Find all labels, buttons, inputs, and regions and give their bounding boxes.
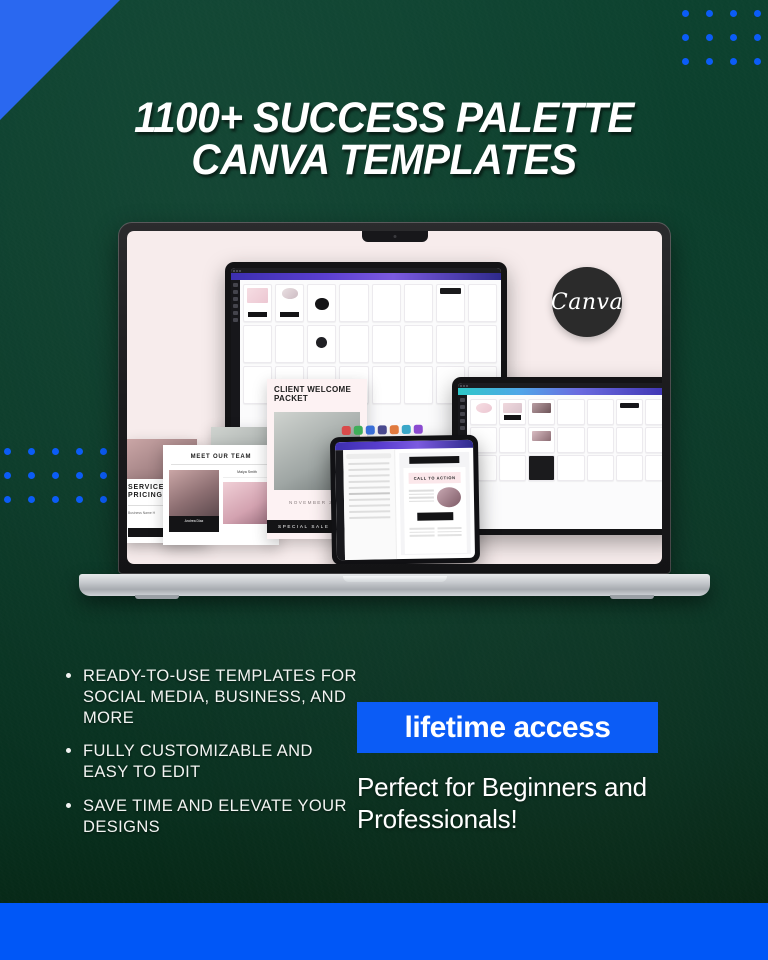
template-card[interactable] xyxy=(307,325,336,363)
promo-subtitle: Perfect for Beginners and Professionals! xyxy=(357,772,697,835)
template-card[interactable] xyxy=(499,455,526,481)
dot xyxy=(4,496,11,503)
template-card[interactable] xyxy=(339,284,368,322)
template-card[interactable] xyxy=(645,455,662,481)
meet-our-team-title: MEET OUR TEAM xyxy=(169,454,273,460)
laptop-base xyxy=(79,574,710,596)
laptop-groove xyxy=(343,576,447,582)
template-card[interactable] xyxy=(528,455,555,481)
laptop-lid: Canva xyxy=(118,222,671,574)
dot xyxy=(730,10,737,17)
dot xyxy=(682,34,689,41)
template-card[interactable] xyxy=(557,455,584,481)
macos-dock xyxy=(342,425,423,435)
tablet-screen: CALL TO ACTION xyxy=(335,440,475,560)
laptop-foot xyxy=(610,595,654,599)
template-card[interactable] xyxy=(499,399,526,425)
dot xyxy=(28,448,35,455)
template-card[interactable] xyxy=(645,427,662,453)
dot xyxy=(730,58,737,65)
template-card[interactable] xyxy=(243,284,272,322)
dot-grid-top-right xyxy=(682,10,768,82)
dot xyxy=(100,496,107,503)
template-card[interactable] xyxy=(436,325,465,363)
tablet-doc-title: CALL TO ACTION xyxy=(409,472,461,484)
dot xyxy=(4,472,11,479)
dot xyxy=(100,448,107,455)
dot xyxy=(754,58,761,65)
template-card[interactable] xyxy=(243,325,272,363)
dock-icon[interactable] xyxy=(342,426,351,435)
template-card[interactable] xyxy=(616,455,643,481)
template-card[interactable] xyxy=(587,427,614,453)
template-card[interactable] xyxy=(557,427,584,453)
dock-icon[interactable] xyxy=(354,426,363,435)
template-card[interactable] xyxy=(404,325,433,363)
dot xyxy=(52,472,59,479)
meet-our-team-card: MEET OUR TEAM Andrea Diaz Maiya Smith xyxy=(163,445,279,545)
template-card[interactable] xyxy=(587,455,614,481)
template-card[interactable] xyxy=(275,284,304,322)
template-card[interactable] xyxy=(307,284,336,322)
dot xyxy=(706,10,713,17)
template-card[interactable] xyxy=(404,366,433,404)
team-member-name-2: Maiya Smith xyxy=(223,470,271,474)
canvas-area: CALL TO ACTION xyxy=(399,452,471,555)
template-card[interactable] xyxy=(616,399,643,425)
laptop-screen: Canva xyxy=(127,231,662,564)
dot xyxy=(706,34,713,41)
template-card[interactable] xyxy=(528,399,555,425)
list-item: SAVE TIME AND ELEVATE YOUR DESIGNS xyxy=(62,796,362,838)
dot xyxy=(4,448,11,455)
template-card[interactable] xyxy=(275,325,304,363)
template-card[interactable] xyxy=(557,399,584,425)
canva-toolbar xyxy=(231,273,501,280)
tablet-mockup: CALL TO ACTION xyxy=(330,435,480,564)
laptop-mockup: Canva xyxy=(118,222,671,596)
dock-icon[interactable] xyxy=(378,425,387,434)
dock-icon[interactable] xyxy=(414,425,423,434)
dot xyxy=(730,34,737,41)
dot xyxy=(28,496,35,503)
dot xyxy=(52,496,59,503)
feature-list: READY-TO-USE TEMPLATES FOR SOCIAL MEDIA,… xyxy=(62,666,362,850)
dock-icon[interactable] xyxy=(402,425,411,434)
canva-logo: Canva xyxy=(552,267,622,337)
template-card[interactable] xyxy=(645,399,662,425)
template-grid xyxy=(468,396,662,529)
lifetime-access-badge: lifetime access xyxy=(357,702,658,753)
dock-icon[interactable] xyxy=(366,426,375,435)
dot xyxy=(682,10,689,17)
template-card[interactable] xyxy=(372,366,401,404)
dot xyxy=(754,10,761,17)
dot-grid-left xyxy=(4,448,124,520)
template-card[interactable] xyxy=(587,399,614,425)
dot xyxy=(100,472,107,479)
team-member-name: Andrea Diaz xyxy=(171,519,217,523)
list-item: FULLY CUSTOMIZABLE AND EASY TO EDIT xyxy=(62,741,362,783)
template-card[interactable] xyxy=(616,427,643,453)
page-list-panel xyxy=(343,449,397,560)
template-card[interactable] xyxy=(468,284,497,322)
template-card[interactable] xyxy=(404,284,433,322)
template-card[interactable] xyxy=(372,284,401,322)
lifetime-access-label: lifetime access xyxy=(405,711,611,745)
dock-icon[interactable] xyxy=(390,425,399,434)
template-card[interactable] xyxy=(468,325,497,363)
bottom-accent-bar xyxy=(0,903,768,960)
secondary-canva-monitor xyxy=(452,377,662,535)
template-card[interactable] xyxy=(339,325,368,363)
dot xyxy=(76,472,83,479)
monitor-screen xyxy=(458,383,662,529)
dot xyxy=(76,496,83,503)
template-card[interactable] xyxy=(372,325,401,363)
headline-line-1: 1100+ SUCCESS PALETTE xyxy=(134,94,634,142)
welcome-packet-title: CLIENT WELCOME PACKET xyxy=(274,386,360,404)
dot xyxy=(28,472,35,479)
dot xyxy=(706,58,713,65)
template-card[interactable] xyxy=(470,399,497,425)
canva-toolbar xyxy=(458,388,662,395)
laptop-foot xyxy=(135,595,179,599)
template-card[interactable] xyxy=(528,427,555,453)
dot xyxy=(76,448,83,455)
canva-logo-text: Canva xyxy=(551,290,623,315)
dot xyxy=(52,448,59,455)
template-card[interactable] xyxy=(499,427,526,453)
canva-toolbar xyxy=(335,440,473,450)
template-card[interactable] xyxy=(436,284,465,322)
dot xyxy=(754,34,761,41)
webcam-notch xyxy=(362,231,428,242)
poster-canvas: 1100+ SUCCESS PALETTE CANVA TEMPLATES Ca… xyxy=(0,0,768,960)
headline-line-2: CANVA TEMPLATES xyxy=(23,139,745,181)
page-title: 1100+ SUCCESS PALETTE CANVA TEMPLATES xyxy=(23,97,745,181)
dot xyxy=(682,58,689,65)
list-item: READY-TO-USE TEMPLATES FOR SOCIAL MEDIA,… xyxy=(62,666,362,728)
